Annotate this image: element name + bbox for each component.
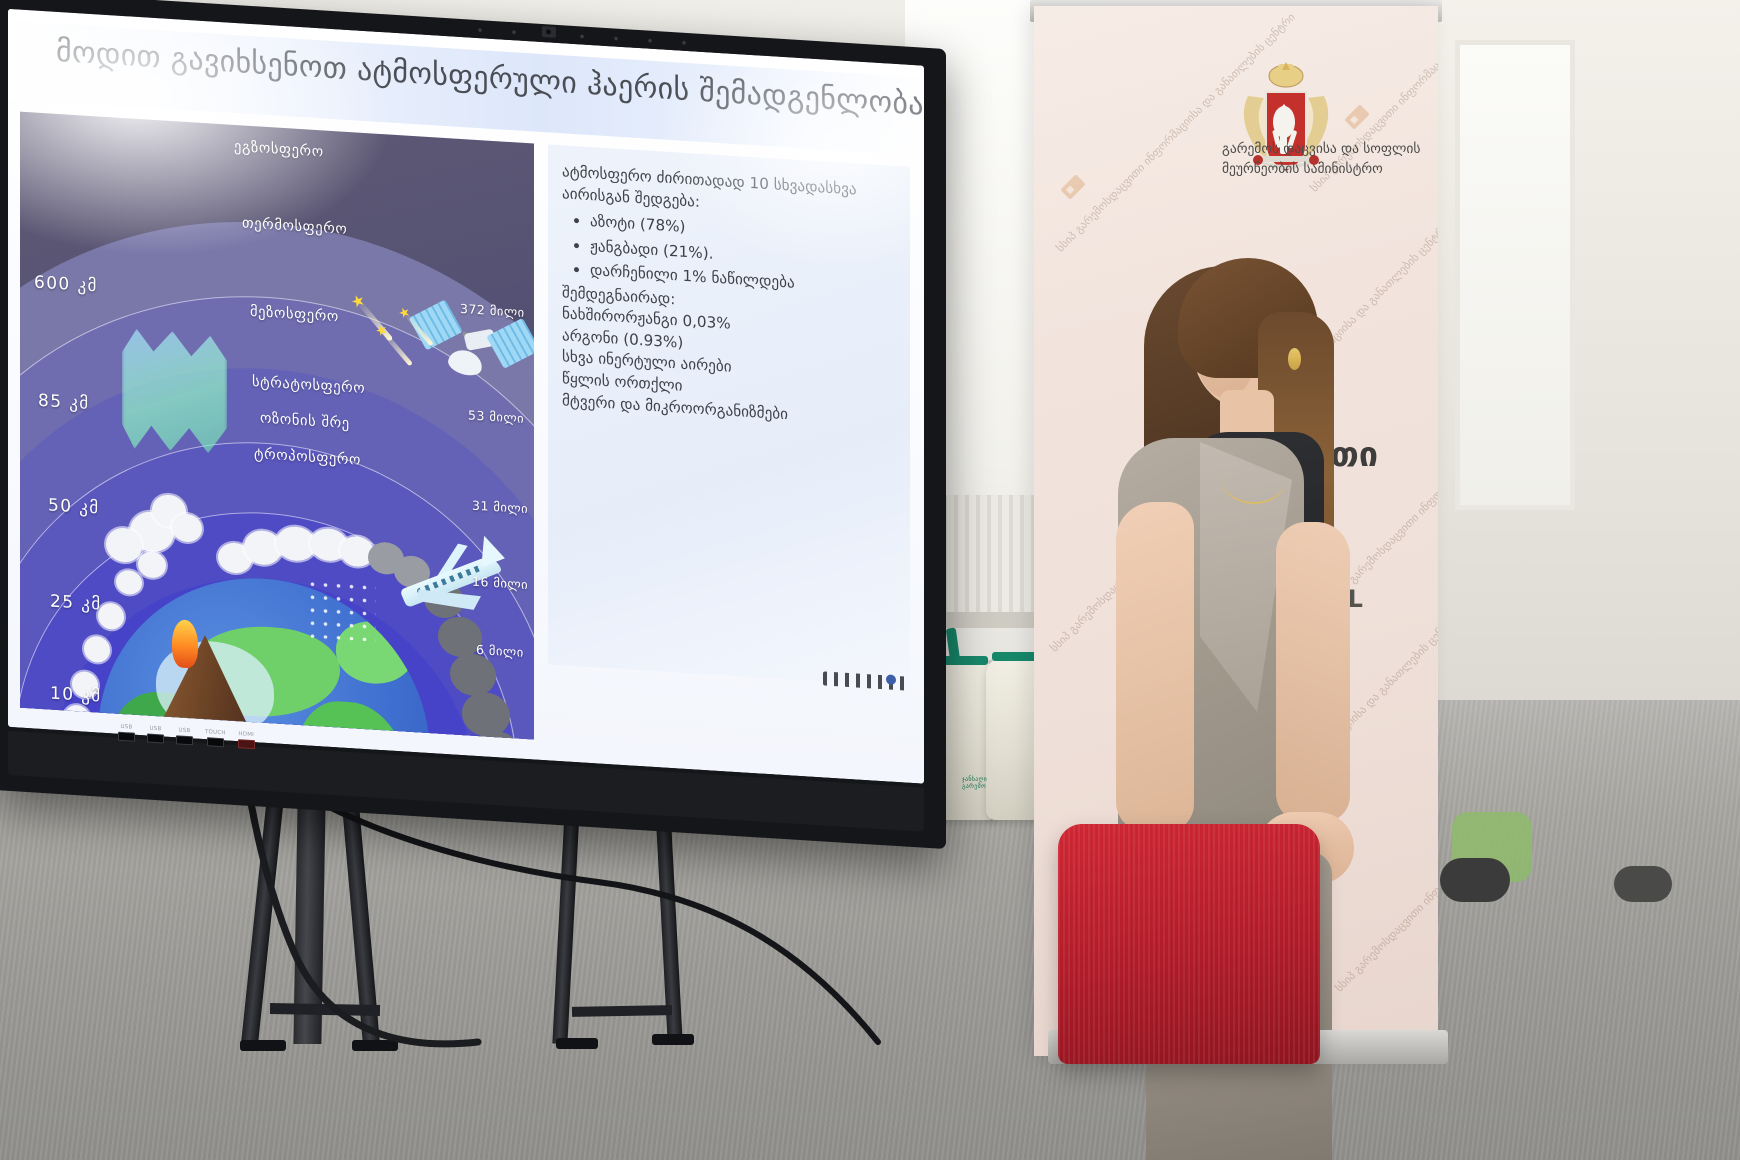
leaf-icon (1056, 170, 1090, 204)
right-arm (1276, 522, 1350, 822)
lava-icon (172, 619, 198, 669)
mile-label-6: 6 მილი (476, 642, 524, 660)
km-label-85: 85 კმ (38, 391, 90, 414)
ministry-line-1: გარემოს დაცვისა და სოფლის (1222, 140, 1452, 160)
easel-foot (240, 1040, 286, 1051)
display-screen[interactable]: მოდით გავიხსენოთ ატმოსფერული ჰაერის შემა… (8, 9, 924, 784)
slide-text-panel: ატმოსფერო ძირითადად 10 სხვადასხვა აირისგ… (548, 144, 910, 686)
floor-object-misc (1614, 866, 1672, 902)
easel-crossbar (270, 1003, 380, 1016)
km-label-50: 50 კმ (48, 495, 100, 518)
presentation-slide: მოდით გავიხსენოთ ატმოსფერული ჰაერის შემა… (8, 9, 924, 784)
easel-foot (352, 1040, 398, 1051)
ministry-line-2: მეურნეობის სამინისტრო (1222, 160, 1452, 180)
aurora-illustration (122, 328, 227, 455)
km-label-10: 10 კმ (50, 683, 102, 706)
power-indicator (886, 674, 896, 685)
atmosphere-diagram: ეგზოსფერო თერმოსფერო მეზოსფერო სტრატოსფე… (20, 112, 534, 740)
layer-label-exosphere: ეგზოსფერო (234, 139, 324, 161)
earring (1288, 348, 1301, 370)
interactive-display[interactable]: მოდით გავიხსენოთ ატმოსფერული ჰაერის შემა… (0, 0, 946, 849)
floor-object-dark (1440, 858, 1510, 902)
easel-foot (556, 1038, 598, 1049)
port-usb-1[interactable]: USB (118, 724, 135, 742)
photo-scene: ჯანსაღიგარემო ჯანსაღიგარემო სსიპ გარემოს… (0, 0, 1740, 1160)
km-label-25: 25 კმ (50, 591, 102, 614)
red-chair (1058, 824, 1320, 1064)
left-arm (1116, 502, 1194, 832)
port-usb-2[interactable]: USB (147, 725, 164, 743)
km-label-600: 600 კმ (34, 272, 98, 296)
port-usb-3[interactable]: USB (176, 727, 193, 745)
banner-ministry-text: გარემოს დაცვისა და სოფლის მეურნეობის სამ… (1222, 140, 1452, 179)
camera-icon (542, 26, 556, 38)
port-touch[interactable]: TOUCH (205, 729, 226, 747)
necklace (1220, 448, 1288, 504)
port-hdmi[interactable]: HDMI (238, 731, 255, 749)
easel-foot (652, 1034, 694, 1045)
easel-crossbar (572, 1005, 672, 1017)
